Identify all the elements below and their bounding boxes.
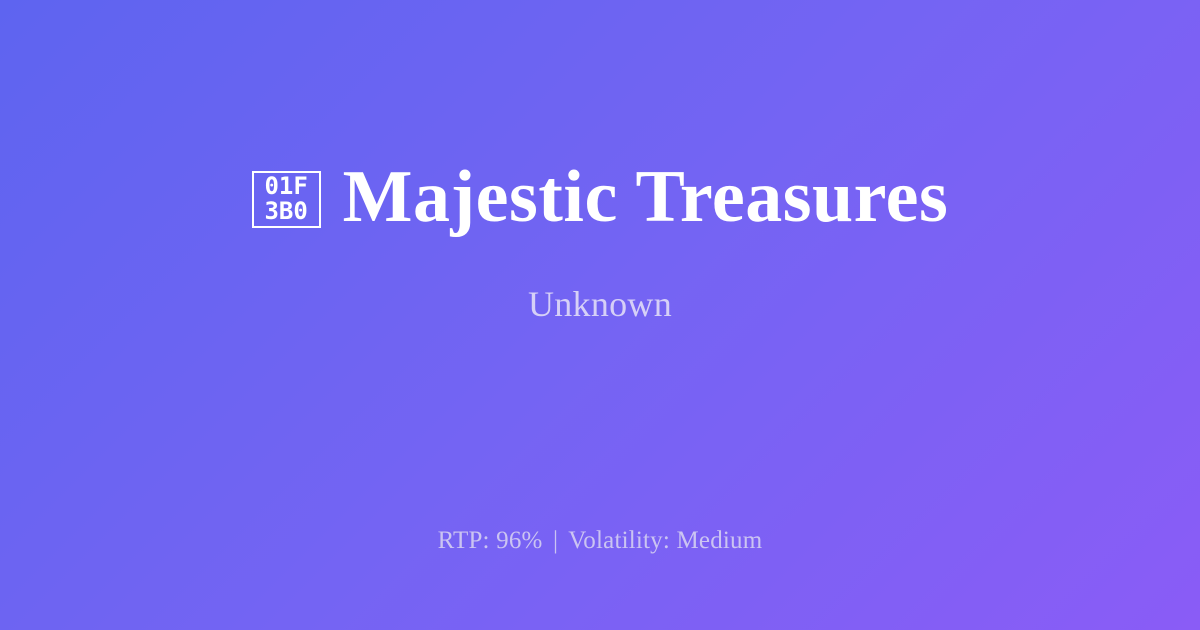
title-row: 01F 3B0 Majestic Treasures (252, 155, 949, 239)
tofu-codepoint-top: 01F (264, 174, 307, 199)
volatility-label: Volatility: (568, 527, 670, 554)
rtp-label: RTP: (438, 527, 490, 554)
game-title: Majestic Treasures (343, 155, 949, 239)
meta-separator: | (549, 527, 562, 554)
tofu-codepoint-bottom: 3B0 (264, 199, 307, 224)
slot-machine-emoji-icon: 01F 3B0 (252, 171, 321, 228)
volatility-value: Medium (676, 527, 762, 554)
hero-block: 01F 3B0 Majestic Treasures Unknown (0, 0, 1200, 480)
game-meta-line: RTP: 96% | Volatility: Medium (0, 526, 1200, 556)
game-provider: Unknown (528, 239, 672, 325)
game-og-card: 01F 3B0 Majestic Treasures Unknown RTP: … (0, 0, 1200, 630)
rtp-value: 96% (496, 527, 542, 554)
